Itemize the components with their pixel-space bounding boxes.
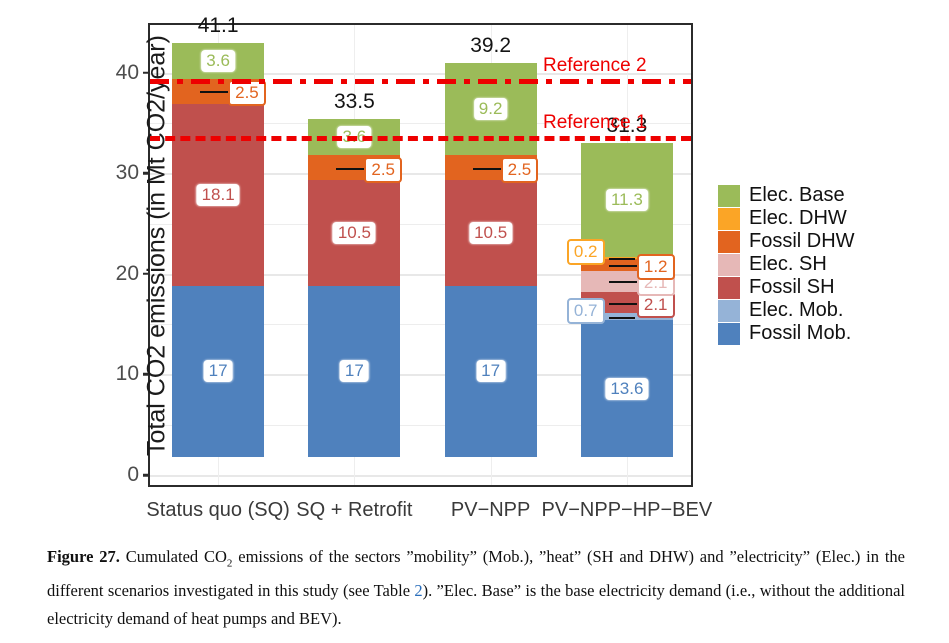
callout-leader-line — [609, 317, 635, 319]
legend-item-label: Elec. Base — [749, 184, 845, 207]
bar-3[interactable]: 1710.52.59.239.2 — [445, 7, 537, 471]
bar-segment-value-label: 11.3 — [606, 189, 648, 211]
legend-item-label: Elec. DHW — [749, 207, 847, 230]
callout-leader-line — [609, 265, 639, 267]
bar-segment-callout-label: 2.5 — [501, 157, 539, 183]
legend-item-label: Elec. SH — [749, 253, 827, 276]
figure-caption: Figure 27. Cumulated CO2 emissions of th… — [47, 543, 905, 633]
caption-figure-number: Figure 27. — [47, 547, 120, 566]
y-axis-title: Total CO2 emissions (in Mt CO2/year) — [143, 0, 172, 566]
bar-segment-callout-label: 0.2 — [567, 239, 605, 265]
x-axis-tick-label: PV−NPP — [451, 499, 530, 522]
caption-table-link[interactable]: 2 — [414, 581, 422, 600]
callout-leader-line — [609, 258, 635, 260]
legend-swatch-icon — [718, 300, 740, 322]
legend-item-fossil-dhw[interactable]: Fossil DHW — [718, 230, 855, 253]
bar-total-label: 39.2 — [470, 34, 511, 58]
bar-segment-callout-label: 0.7 — [567, 298, 605, 324]
callout-leader-line — [336, 168, 366, 170]
y-axis-tick-label: 0 — [127, 463, 139, 487]
legend-item-label: Fossil SH — [749, 276, 835, 299]
legend-item-elec-mob[interactable]: Elec. Mob. — [718, 299, 855, 322]
chart-legend: Elec. BaseElec. DHWFossil DHWElec. SHFos… — [718, 184, 855, 345]
x-axis-tick-label: SQ + Retrofit — [296, 499, 412, 522]
legend-item-fossil-mob[interactable]: Fossil Mob. — [718, 322, 855, 345]
legend-item-label: Fossil DHW — [749, 230, 855, 253]
reference-line-reference-1 — [150, 136, 691, 141]
legend-swatch-icon — [718, 185, 740, 207]
legend-swatch-icon — [718, 254, 740, 276]
bar-segment-callout-label: 2.5 — [228, 80, 266, 106]
reference-line-label: Reference 1 — [543, 112, 647, 134]
bar-segment-callout-label: 2.5 — [364, 157, 402, 183]
bar-segment-value-label: 17 — [340, 360, 369, 382]
callout-leader-line — [609, 303, 639, 305]
reference-line-reference-2 — [150, 79, 691, 84]
bar-2[interactable]: 1710.52.53.633.5 — [308, 7, 400, 471]
legend-swatch-icon — [718, 323, 740, 345]
bar-segment-value-label: 13.6 — [605, 378, 648, 400]
x-axis-tick-label: PV−NPP−HP−BEV — [542, 499, 713, 522]
legend-item-label: Elec. Mob. — [749, 299, 843, 322]
figure-27-container: 010203040Status quo (SQ)1718.12.53.641.1… — [0, 0, 949, 643]
bar-segment-value-label: 9.2 — [474, 98, 508, 120]
bar-segment-value-label: 17 — [204, 360, 233, 382]
caption-part-1: Cumulated CO — [120, 547, 227, 566]
y-axis-tick-label: 20 — [116, 262, 139, 286]
gridline-major — [150, 475, 691, 477]
legend-swatch-icon — [718, 231, 740, 253]
bar-segment-value-label: 3.6 — [201, 50, 235, 72]
legend-item-label: Fossil Mob. — [749, 322, 851, 345]
plot-area: 010203040Status quo (SQ)1718.12.53.641.1… — [148, 23, 693, 487]
callout-leader-line — [609, 281, 639, 283]
bar-total-label: 33.5 — [334, 90, 375, 114]
legend-item-elec-sh[interactable]: Elec. SH — [718, 253, 855, 276]
bar-1[interactable]: 1718.12.53.641.1 — [172, 7, 264, 471]
legend-item-fossil-sh[interactable]: Fossil SH — [718, 276, 855, 299]
y-axis-tick-label: 40 — [116, 61, 139, 85]
bar-segment-value-label: 10.5 — [469, 222, 512, 244]
y-axis-tick-label: 30 — [116, 161, 139, 185]
bar-segment-value-label: 18.1 — [197, 184, 240, 206]
bar-segment-value-label: 10.5 — [333, 222, 376, 244]
reference-line-label: Reference 2 — [543, 55, 647, 77]
callout-leader-line — [473, 168, 503, 170]
legend-item-elec-base[interactable]: Elec. Base — [718, 184, 855, 207]
bar-segment-value-label: 17 — [476, 360, 505, 382]
legend-swatch-icon — [718, 208, 740, 230]
bar-total-label: 41.1 — [198, 14, 239, 38]
bar-segment-callout-label: 1.2 — [637, 254, 675, 280]
legend-swatch-icon — [718, 277, 740, 299]
legend-item-elec-dhw[interactable]: Elec. DHW — [718, 207, 855, 230]
callout-leader-line — [200, 91, 230, 93]
y-axis-tick-label: 10 — [116, 362, 139, 386]
